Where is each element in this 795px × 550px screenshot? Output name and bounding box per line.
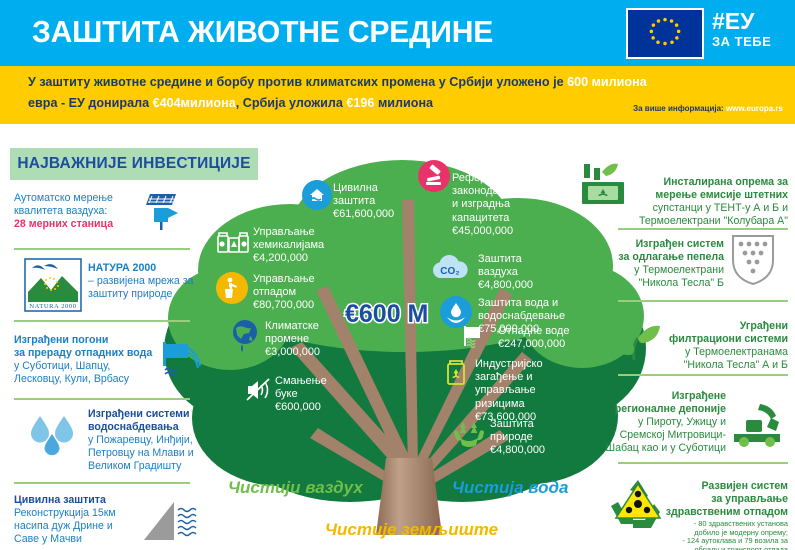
tree-item-title-line: и изградња	[452, 198, 572, 211]
sidebar-text-line: "Никола Тесла" А и Б	[660, 359, 788, 372]
tree-item-title-line: Отпадне воде	[498, 325, 618, 338]
sidebar-text-line: Сремској Митровици-	[598, 429, 726, 442]
tree-item-industrial-pollution: Индустријско загађење и управљање ризици…	[475, 358, 605, 424]
eu-subtitle: ЗА ТЕБЕ	[712, 34, 771, 49]
banner-highlight-600: 600 милиона	[567, 75, 647, 89]
eu-flag-icon	[626, 8, 704, 59]
gavel-icon	[418, 160, 450, 192]
more-info-label: За више информација:	[633, 104, 724, 113]
green-sprout-icon	[608, 318, 662, 364]
person-bin-icon	[216, 272, 248, 304]
eu-hashtag: #ЕУ	[712, 10, 771, 32]
sidebar-highlight-stations: 28 мерних станица	[14, 218, 142, 231]
sidebar-text-line: Лесковцу, Кули, Врбасу	[14, 373, 164, 386]
sidebar-text-line: заштиту природе	[88, 288, 200, 301]
eu-stars-icon	[628, 10, 702, 57]
tree-item-title-line: буке	[275, 388, 385, 401]
sidebar-divider	[14, 320, 190, 322]
sidebar-item-water-supply: Изграђени системи водоснабдевања у Пожар…	[88, 408, 208, 473]
tree-item-title-line: водоснабдевање	[478, 310, 608, 323]
sidebar-divider	[14, 482, 190, 484]
sidebar-divider	[618, 300, 788, 302]
globe-icon	[230, 318, 262, 354]
banner-line-1: У заштиту животне средине и борбу против…	[28, 75, 647, 89]
hands-trees-icon	[450, 416, 488, 450]
sidebar-text-line: "Никола Тесла" Б	[612, 277, 724, 290]
tree-item-title-line: капацитета	[452, 212, 572, 225]
tree-item-amount: €3,000,000	[265, 346, 375, 359]
embankment-waves-icon	[142, 496, 206, 544]
page-header: ЗАШТИТА ЖИВОТНЕ СРЕДИНЕ	[0, 0, 795, 66]
tagline-cleaner-soil: Чистије земљиште	[325, 520, 498, 540]
tree-item-legislation-reform: Реформа законодавства и изградња капацит…	[452, 172, 572, 238]
sidebar-item-civil-protection-dikes: Цивилна заштита Реконструкција 15км наси…	[14, 494, 142, 546]
tree-item-amount: €61,600,000	[333, 208, 443, 221]
wastewater-pipe-icon	[460, 322, 494, 352]
tree-item-title-line: Индустријско	[475, 358, 605, 371]
sidebar-text-line: Изграђен систем	[612, 238, 724, 251]
water-droplets-icon	[26, 412, 82, 464]
sidebar-text-line: Аутоматско мерење	[14, 192, 142, 205]
sidebar-text-line: – развијена мрежа за	[88, 275, 200, 288]
sidebar-text-line: Изграђене	[598, 390, 726, 403]
tree-item-nature-protection: Заштита природе €4,800,000	[490, 418, 600, 458]
tagline-cleaner-water: Чистија вода	[452, 478, 568, 498]
sidebar-text-line: насипа дуж Дрине и	[14, 520, 142, 533]
tree-item-title-line: природе	[490, 431, 600, 444]
tree-item-title-line: загађење и	[475, 371, 605, 384]
tree-item-amount: €4,800,000	[478, 279, 588, 292]
banner-line-2: евра - ЕУ донирала €404милиона, Србија у…	[28, 96, 433, 110]
co2-cloud-icon: CO₂	[428, 252, 474, 284]
tree-item-title-line: управљање	[475, 384, 605, 397]
tree-item-title-line: Заштита	[490, 418, 600, 431]
tree-item-title-line: промене	[265, 333, 375, 346]
svg-text:NATURA 2000: NATURA 2000	[29, 303, 76, 310]
tree-item-air-protection: Заштита ваздуха €4,800,000	[478, 253, 588, 293]
tree-item-noise-reduction: Смањење буке €600,000	[275, 375, 385, 415]
sidebar-text-line: водоснабдевања	[88, 421, 208, 434]
ash-disposal-silo-icon	[728, 232, 778, 288]
eu-logo: #ЕУ ЗА ТЕБЕ	[626, 8, 786, 59]
sidebar-text-line: у Термоелектрани	[612, 264, 724, 277]
tree-item-amount: €45,000,000	[452, 225, 572, 238]
sidebar-text-line: Инсталирана опрема за	[636, 176, 788, 189]
tree-item-title-line: Управљање	[253, 273, 373, 286]
sidebar-text-line: у Пожаревцу, Инђији,	[88, 434, 208, 447]
tree-item-amount: €247,000,000	[498, 338, 618, 351]
sidebar-text-line: за прераду отпадних вода	[14, 347, 164, 360]
mute-speaker-icon	[243, 376, 273, 404]
tree-item-title-line: отпадом	[253, 286, 373, 299]
tree-item-chemicals-management: Управљање хемикалијама €4,200,000	[253, 226, 373, 266]
sidebar-text-line: Развијен систем	[656, 480, 788, 493]
tree-item-title-line: законодавства	[452, 185, 572, 198]
sidebar-item-emission-measuring: Инсталирана опрема за мерење емисије ште…	[636, 176, 788, 228]
sidebar-text-line: квалитета ваздуха:	[14, 205, 142, 218]
tree-item-amount: €4,200,000	[253, 252, 373, 265]
europa-url-link[interactable]: www.europa.rs	[726, 104, 783, 113]
tree-item-amount: €4,800,000	[490, 444, 600, 457]
sidebar-text-line: у Термоелектранама	[660, 346, 788, 359]
house-flood-icon	[302, 180, 332, 210]
sidebar-divider	[618, 374, 788, 376]
sidebar-text-line: Великом Градишту	[88, 460, 208, 473]
water-outflow-icon	[162, 340, 206, 382]
sidebar-divider	[14, 398, 190, 400]
sidebar-divider	[618, 462, 788, 464]
recycle-bin-icon	[442, 358, 470, 390]
sidebar-small-line: обраду и транспорт отпада	[656, 546, 788, 550]
sidebar-item-wastewater-plants: Изграђени погони за прераду отпадних вод…	[14, 334, 164, 386]
sidebar-text-line: здравственим отпадом	[656, 506, 788, 519]
sidebar-text-line: Реконструкција 15км	[14, 507, 142, 520]
more-info-line: За више информација: www.europa.rs	[633, 104, 783, 113]
chemical-bins-icon	[216, 228, 250, 258]
summary-banner: У заштиту животне средине и борбу против…	[0, 66, 795, 124]
sidebar-text-line: у Пироту, Ужицу и	[598, 416, 726, 429]
sidebar-item-filtration-systems: Уграђени филтрациони системи у Термоелек…	[660, 320, 788, 372]
tree-item-title-line: Реформа	[452, 172, 572, 185]
banner-text-4: милиона	[378, 96, 433, 110]
svg-text:CO₂: CO₂	[440, 266, 459, 277]
sidebar-text-line: Изграђени погони	[14, 334, 164, 347]
sidebar-text-line: Цивилна заштита	[14, 494, 142, 507]
sidebar-item-regional-landfills: Изграђене регионалне депоније у Пироту, …	[598, 390, 726, 455]
banner-highlight-196: €196	[346, 96, 374, 110]
banner-highlight-404: €404милиона	[153, 96, 236, 110]
infographic-page: ЗАШТИТА ЖИВОТНЕ СРЕДИНЕ	[0, 0, 795, 550]
tree-item-title-line: Заштита вода и	[478, 297, 608, 310]
sidebar-text-line: Шабац као и у Суботици	[598, 442, 726, 455]
sidebar-divider	[14, 248, 190, 250]
sidebar-text-line: Изграђени системи	[88, 408, 208, 421]
sidebar-text-line: регионалне депоније	[598, 403, 726, 416]
sidebar-text-line: за управљање	[656, 493, 788, 506]
sidebar-text-line: Саве у Мачви	[14, 533, 142, 546]
page-title: ЗАШТИТА ЖИВОТНЕ СРЕДИНЕ	[32, 14, 493, 50]
tree-item-amount: €600,000	[275, 401, 385, 414]
eu-brand-text: #ЕУ ЗА ТЕБЕ	[712, 10, 771, 49]
green-factory-recycle-icon	[578, 160, 634, 214]
banner-text-2: евра - ЕУ донирала	[28, 96, 149, 110]
tree-item-wastewater: Отпадне воде €247,000,000	[498, 325, 618, 351]
tree-item-title-line: ваздуха	[478, 266, 588, 279]
sidebar-text-line: Петровцу на Млави и	[88, 447, 208, 460]
sidebar-text-line: НАТУРА 2000	[88, 262, 200, 275]
tree-item-title-line: Заштита	[478, 253, 588, 266]
sidebar-text-line: за одлагање пепела	[612, 251, 724, 264]
tree-item-title-line: заштита	[333, 195, 443, 208]
tree-item-title-line: Смањење	[275, 375, 385, 388]
tagline-cleaner-air: Чистији ваздух	[228, 478, 363, 498]
tree-item-title-line: хемикалијама	[253, 239, 373, 252]
sidebar-item-ash-disposal: Изграђен систем за одлагање пепела у Тер…	[612, 238, 724, 290]
sidebar-text-line: у Суботици, Шапцу,	[14, 360, 164, 373]
banner-text-1: У заштиту животне средине и борбу против…	[28, 75, 564, 89]
sidebar-item-natura-2000: НАТУРА 2000 – развијена мрежа за заштиту…	[88, 262, 200, 301]
sidebar-text-line: мерење емисије штетних	[636, 189, 788, 202]
sidebar-item-air-quality: Аутоматско мерење квалитета ваздуха: 28 …	[14, 192, 142, 231]
excavator-icon	[730, 398, 788, 452]
sidebar-item-medical-waste: Развијен систем за управљање здравствени…	[656, 480, 788, 550]
solar-panel-station-icon	[140, 190, 182, 232]
total-investment-badge: €600 М	[345, 300, 428, 329]
banner-text-3: , Србија уложила	[236, 96, 343, 110]
sidebar-divider	[618, 228, 788, 230]
sidebar-text-line: Уграђени	[660, 320, 788, 333]
tree-item-title-line: ризицима	[475, 398, 605, 411]
natura-2000-logo-icon: NATURA 2000	[24, 258, 82, 312]
sidebar-text-line: филтрациони системи	[660, 333, 788, 346]
sidebar-text-line: Термоелектрани "Колубара А"	[636, 215, 788, 228]
sidebar-text-line: супстанци у ТЕНТ-у А и Б и	[636, 202, 788, 215]
tree-item-title-line: Управљање	[253, 226, 373, 239]
